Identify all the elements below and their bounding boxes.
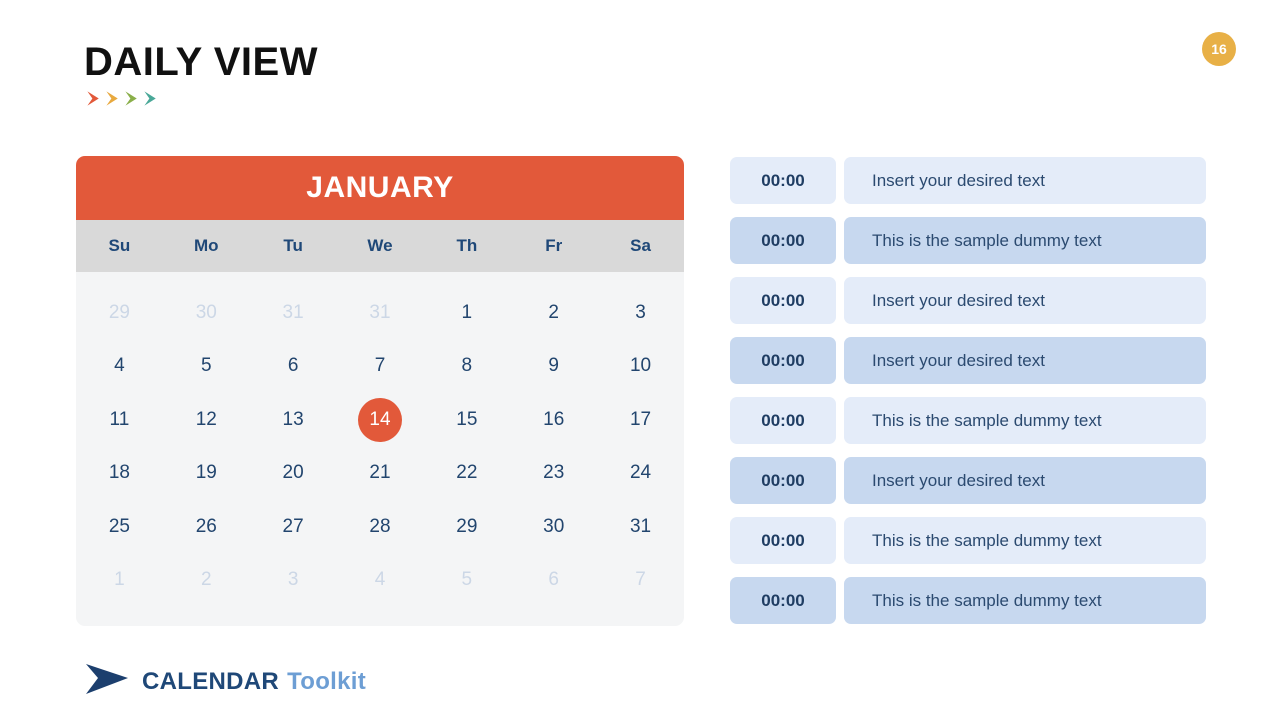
calendar-day-number: 19	[184, 451, 228, 495]
footer-brand-text: CALENDARToolkit	[142, 668, 366, 696]
calendar-day-number: 7	[358, 344, 402, 388]
schedule-time-chip[interactable]: 00:00	[730, 217, 836, 264]
calendar-day[interactable]: 30	[510, 500, 597, 554]
schedule-text-field[interactable]: Insert your desired text	[844, 337, 1206, 384]
schedule-row[interactable]: 00:00Insert your desired text	[730, 277, 1206, 324]
calendar-day[interactable]: 4	[76, 340, 163, 394]
calendar-day[interactable]: 29	[76, 286, 163, 340]
calendar-weekday-we: We	[337, 236, 424, 256]
calendar-weekday-su: Su	[76, 236, 163, 256]
footer-branding: CALENDARToolkit	[84, 662, 366, 701]
chevron-icon-3	[124, 90, 141, 107]
calendar-day-number: 23	[532, 451, 576, 495]
calendar-day-number: 22	[445, 451, 489, 495]
calendar-day-number: 15	[445, 398, 489, 442]
calendar-day[interactable]: 7	[597, 554, 684, 608]
calendar-weekday-fr: Fr	[510, 236, 597, 256]
calendar-day-number: 31	[271, 291, 315, 335]
schedule-row[interactable]: 00:00This is the sample dummy text	[730, 577, 1206, 624]
calendar-day-number: 1	[97, 558, 141, 602]
calendar-day-number: 6	[532, 558, 576, 602]
calendar-day[interactable]: 25	[76, 500, 163, 554]
calendar-day-grid[interactable]: 2930313112345678910111213141516171819202…	[76, 272, 684, 607]
calendar-day-number: 24	[619, 451, 663, 495]
calendar-day[interactable]: 19	[163, 447, 250, 501]
calendar-day[interactable]: 24	[597, 447, 684, 501]
calendar-day-number: 17	[619, 398, 663, 442]
calendar-day[interactable]: 31	[250, 286, 337, 340]
calendar-day[interactable]: 12	[163, 393, 250, 447]
schedule-text-field[interactable]: This is the sample dummy text	[844, 517, 1206, 564]
calendar-weekday-th: Th	[423, 236, 510, 256]
schedule-time-chip[interactable]: 00:00	[730, 337, 836, 384]
calendar-weekday-mo: Mo	[163, 236, 250, 256]
schedule-text-field[interactable]: This is the sample dummy text	[844, 397, 1206, 444]
schedule-row[interactable]: 00:00This is the sample dummy text	[730, 397, 1206, 444]
calendar-day-number: 13	[271, 398, 315, 442]
calendar-day[interactable]: 5	[423, 554, 510, 608]
calendar-day[interactable]: 2	[510, 286, 597, 340]
schedule-row[interactable]: 00:00This is the sample dummy text	[730, 517, 1206, 564]
calendar-day-number: 21	[358, 451, 402, 495]
calendar-day-number: 4	[97, 344, 141, 388]
calendar-day[interactable]: 7	[337, 340, 424, 394]
schedule-text-field[interactable]: Insert your desired text	[844, 157, 1206, 204]
calendar-day[interactable]: 20	[250, 447, 337, 501]
chevron-icon-2	[105, 90, 122, 107]
calendar-day[interactable]: 2	[163, 554, 250, 608]
calendar-day-number: 26	[184, 505, 228, 549]
footer-brand-main: CALENDAR	[142, 668, 279, 695]
calendar-day[interactable]: 21	[337, 447, 424, 501]
calendar-day-number: 31	[619, 505, 663, 549]
calendar-day[interactable]: 15	[423, 393, 510, 447]
calendar-day[interactable]: 5	[163, 340, 250, 394]
calendar-day[interactable]: 30	[163, 286, 250, 340]
calendar-day[interactable]: 9	[510, 340, 597, 394]
calendar-month-header: JANUARY	[76, 156, 684, 220]
calendar-day[interactable]: 13	[250, 393, 337, 447]
calendar-day-number: 11	[97, 398, 141, 442]
calendar-day[interactable]: 28	[337, 500, 424, 554]
arrow-icon	[84, 662, 130, 701]
calendar-day[interactable]: 3	[597, 286, 684, 340]
calendar-day-number: 16	[532, 398, 576, 442]
calendar-day-number: 20	[271, 451, 315, 495]
calendar-day[interactable]: 4	[337, 554, 424, 608]
calendar-day[interactable]: 11	[76, 393, 163, 447]
calendar-day-number: 5	[184, 344, 228, 388]
calendar-day-selected[interactable]: 14	[337, 393, 424, 447]
calendar-day-number: 30	[532, 505, 576, 549]
calendar-day-number: 3	[271, 558, 315, 602]
calendar-day-number: 27	[271, 505, 315, 549]
calendar-day[interactable]: 3	[250, 554, 337, 608]
chevron-icon-4	[143, 90, 160, 107]
calendar-day-number: 2	[532, 291, 576, 335]
calendar-day-number: 7	[619, 558, 663, 602]
calendar-card: JANUARY SuMoTuWeThFrSa 29303131123456789…	[76, 156, 684, 626]
calendar-day-number: 3	[619, 291, 663, 335]
calendar-day-number: 6	[271, 344, 315, 388]
calendar-day[interactable]: 18	[76, 447, 163, 501]
calendar-day[interactable]: 17	[597, 393, 684, 447]
calendar-day-number: 30	[184, 291, 228, 335]
calendar-day[interactable]: 27	[250, 500, 337, 554]
schedule-time-chip[interactable]: 00:00	[730, 277, 836, 324]
calendar-day-number: 28	[358, 505, 402, 549]
schedule-text-field[interactable]: Insert your desired text	[844, 457, 1206, 504]
page-title: DAILY VIEW	[84, 42, 318, 82]
calendar-day[interactable]: 6	[510, 554, 597, 608]
calendar-day-number: 12	[184, 398, 228, 442]
schedule-text-field[interactable]: Insert your desired text	[844, 277, 1206, 324]
calendar-day-number: 10	[619, 344, 663, 388]
schedule-row[interactable]: 00:00Insert your desired text	[730, 337, 1206, 384]
calendar-day[interactable]: 31	[597, 500, 684, 554]
schedule-row[interactable]: 00:00Insert your desired text	[730, 457, 1206, 504]
calendar-day[interactable]: 1	[423, 286, 510, 340]
schedule-time-chip[interactable]: 00:00	[730, 577, 836, 624]
calendar-day[interactable]: 1	[76, 554, 163, 608]
schedule-text-field[interactable]: This is the sample dummy text	[844, 217, 1206, 264]
schedule-time-chip[interactable]: 00:00	[730, 397, 836, 444]
calendar-day-number: 1	[445, 291, 489, 335]
calendar-day[interactable]: 22	[423, 447, 510, 501]
calendar-day-number: 31	[358, 291, 402, 335]
calendar-day[interactable]: 26	[163, 500, 250, 554]
calendar-day-number: 9	[532, 344, 576, 388]
schedule-list: 00:00Insert your desired text00:00This i…	[730, 157, 1206, 624]
calendar-day-number: 8	[445, 344, 489, 388]
calendar-day[interactable]: 16	[510, 393, 597, 447]
calendar-day[interactable]: 10	[597, 340, 684, 394]
calendar-day[interactable]: 6	[250, 340, 337, 394]
page-number-badge: 16	[1202, 32, 1236, 66]
chevron-decoration	[86, 90, 160, 107]
calendar-day[interactable]: 23	[510, 447, 597, 501]
calendar-day-number: 29	[97, 291, 141, 335]
calendar-day[interactable]: 29	[423, 500, 510, 554]
calendar-weekday-sa: Sa	[597, 236, 684, 256]
footer-brand-sub: Toolkit	[287, 668, 366, 695]
schedule-time-chip[interactable]: 00:00	[730, 157, 836, 204]
schedule-row[interactable]: 00:00This is the sample dummy text	[730, 217, 1206, 264]
calendar-day[interactable]: 31	[337, 286, 424, 340]
schedule-time-chip[interactable]: 00:00	[730, 457, 836, 504]
calendar-day-number: 2	[184, 558, 228, 602]
schedule-time-chip[interactable]: 00:00	[730, 517, 836, 564]
calendar-day-number: 5	[445, 558, 489, 602]
calendar-day-number: 4	[358, 558, 402, 602]
calendar-day[interactable]: 8	[423, 340, 510, 394]
schedule-text-field[interactable]: This is the sample dummy text	[844, 577, 1206, 624]
calendar-weekday-tu: Tu	[250, 236, 337, 256]
schedule-row[interactable]: 00:00Insert your desired text	[730, 157, 1206, 204]
calendar-day-number: 29	[445, 505, 489, 549]
calendar-day-number: 14	[358, 398, 402, 442]
calendar-weekday-row: SuMoTuWeThFrSa	[76, 220, 684, 272]
chevron-icon-1	[86, 90, 103, 107]
calendar-day-number: 25	[97, 505, 141, 549]
calendar-day-number: 18	[97, 451, 141, 495]
